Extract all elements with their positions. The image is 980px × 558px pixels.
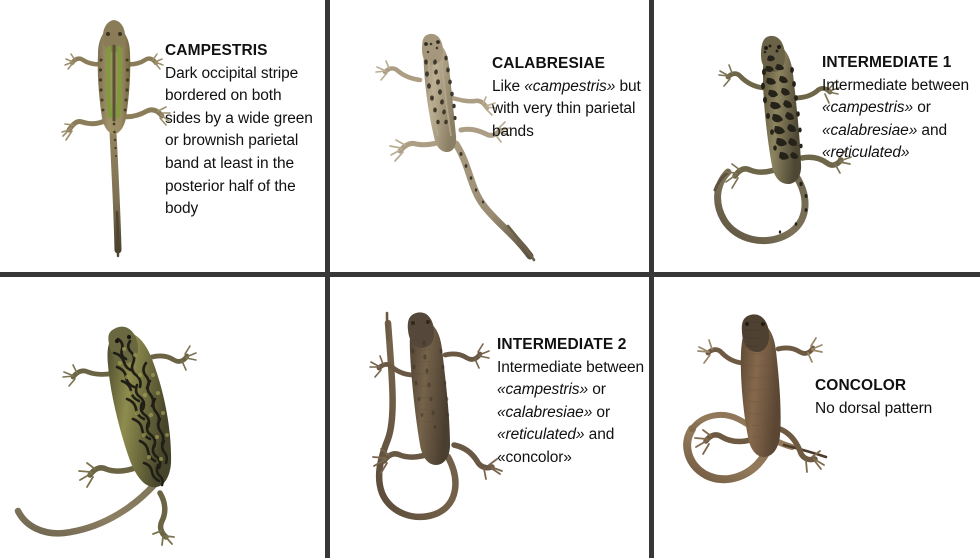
lizard-intermediate-2-image	[352, 299, 517, 539]
morph-text-campestris: CAMPESTRIS Dark occipital stripe bordere…	[165, 40, 317, 221]
panel-intermediate-2: INTERMEDIATE 2 Intermediate between «cam…	[330, 277, 649, 558]
morph-text-intermediate-1: INTERMEDIATE 1 Intermediate between «cam…	[822, 52, 974, 165]
lizard-concolor-image	[674, 307, 864, 542]
morph-text-concolor: CONCOLOR No dorsal pattern	[815, 375, 970, 420]
morph-title-concolor: CONCOLOR	[815, 375, 970, 398]
morph-description-campestris: Dark occipital stripe bordered on both s…	[165, 63, 317, 221]
morph-title-calabresiae: CALABRESIAE	[492, 53, 642, 76]
lizard-reticulated-image	[14, 315, 210, 547]
panel-concolor: CONCOLOR No dorsal pattern	[654, 277, 980, 558]
morph-description-calabresiae: Like «campestris» but with very thin par…	[492, 76, 642, 144]
panel-campestris: CAMPESTRIS Dark occipital stripe bordere…	[0, 0, 325, 272]
panel-intermediate-1: INTERMEDIATE 1 Intermediate between «cam…	[654, 0, 980, 272]
panel-reticulated: RETICULATED Coalescence of the elements …	[0, 277, 325, 558]
morph-text-calabresiae: CALABRESIAE Like «campestris» but with v…	[492, 53, 642, 143]
morph-description-intermediate-1: Intermediate between «campestris» or «ca…	[822, 75, 974, 165]
morph-description-intermediate-2: Intermediate between «campestris» or «ca…	[497, 357, 645, 470]
lizard-campestris-image	[55, 12, 175, 262]
morph-title-intermediate-1: INTERMEDIATE 1	[822, 52, 974, 75]
lizard-morph-figure: CAMPESTRIS Dark occipital stripe bordere…	[0, 0, 980, 558]
panel-calabresiae: CALABRESIAE Like «campestris» but with v…	[330, 0, 649, 272]
morph-title-campestris: CAMPESTRIS	[165, 40, 317, 63]
morph-description-concolor: No dorsal pattern	[815, 398, 970, 421]
morph-text-intermediate-2: INTERMEDIATE 2 Intermediate between «cam…	[497, 334, 645, 470]
morph-title-intermediate-2: INTERMEDIATE 2	[497, 334, 645, 357]
